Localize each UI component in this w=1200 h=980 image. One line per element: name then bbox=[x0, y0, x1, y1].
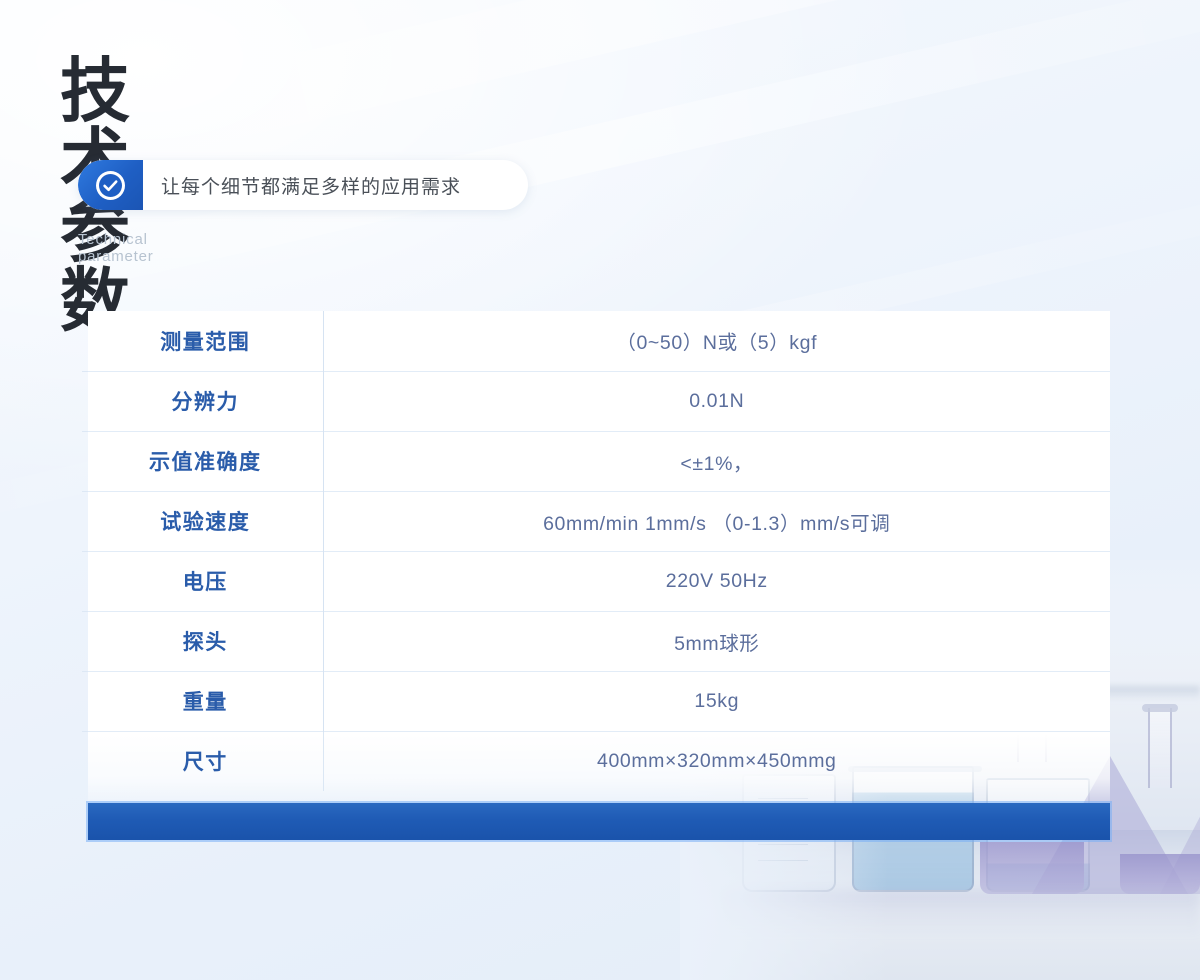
table-row: 电压 220V 50Hz bbox=[88, 551, 1110, 611]
spec-key: 分辨力 bbox=[88, 371, 323, 431]
table-row: 测量范围 （0~50）N或（5）kgf bbox=[88, 311, 1110, 371]
spec-key: 试验速度 bbox=[88, 491, 323, 551]
spec-value: 400mm×320mm×450mmg bbox=[323, 731, 1110, 791]
spec-key: 探头 bbox=[88, 611, 323, 671]
page-subtitle: Technical parameter bbox=[78, 231, 154, 265]
table-row: 探头 5mm球形 bbox=[88, 611, 1110, 671]
table-row: 试验速度 60mm/min 1mm/s （0-1.3）mm/s可调 bbox=[88, 491, 1110, 551]
spec-key: 重量 bbox=[88, 671, 323, 731]
spec-table: 测量范围 （0~50）N或（5）kgf 分辨力 0.01N 示值准确度 <±1%… bbox=[88, 311, 1110, 791]
spec-value: （0~50）N或（5）kgf bbox=[323, 311, 1110, 371]
tagline-badge: 让每个细节都满足多样的应用需求 bbox=[78, 160, 528, 210]
table-row: 尺寸 400mm×320mm×450mmg bbox=[88, 731, 1110, 791]
tagline-text: 让每个细节都满足多样的应用需求 bbox=[143, 172, 461, 199]
table-row: 分辨力 0.01N bbox=[88, 371, 1110, 431]
spec-value: <±1%， bbox=[323, 431, 1110, 491]
spec-key: 示值准确度 bbox=[88, 431, 323, 491]
check-circle-icon bbox=[96, 171, 125, 200]
page-background: 技术参数 让每个细节都满足多样的应用需求 Technical parameter bbox=[0, 0, 1200, 980]
table-row: 示值准确度 <±1%， bbox=[88, 431, 1110, 491]
spec-key: 电压 bbox=[88, 551, 323, 611]
bottom-accent-bar bbox=[88, 803, 1110, 840]
spec-value: 15kg bbox=[323, 671, 1110, 731]
spec-key: 尺寸 bbox=[88, 731, 323, 791]
table-row: 重量 15kg bbox=[88, 671, 1110, 731]
spec-value: 0.01N bbox=[323, 371, 1110, 431]
spec-value: 5mm球形 bbox=[323, 611, 1110, 671]
spec-table-card: 测量范围 （0~50）N或（5）kgf 分辨力 0.01N 示值准确度 <±1%… bbox=[88, 311, 1110, 803]
badge-icon-block bbox=[78, 160, 143, 210]
spec-value: 220V 50Hz bbox=[323, 551, 1110, 611]
spec-key: 测量范围 bbox=[88, 311, 323, 371]
spec-table-body: 测量范围 （0~50）N或（5）kgf 分辨力 0.01N 示值准确度 <±1%… bbox=[88, 311, 1110, 791]
spec-value: 60mm/min 1mm/s （0-1.3）mm/s可调 bbox=[323, 491, 1110, 551]
